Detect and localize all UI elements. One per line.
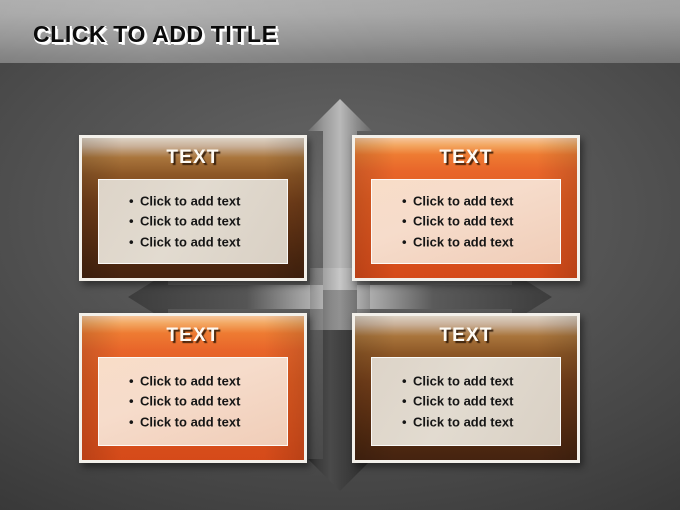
- bullet-marker-icon: •: [129, 232, 140, 253]
- list-item-label: Click to add text: [413, 414, 513, 429]
- list-item-label: Click to add text: [140, 234, 240, 249]
- list-item-label: Click to add text: [140, 373, 240, 388]
- bullet-marker-icon: •: [129, 211, 140, 232]
- list-item-label: Click to add text: [140, 414, 240, 429]
- box-heading[interactable]: TEXT: [355, 147, 577, 169]
- box-text-panel[interactable]: •Click to add text •Click to add text •C…: [371, 357, 561, 446]
- list-item[interactable]: •Click to add text: [402, 371, 560, 392]
- box-heading[interactable]: TEXT: [355, 325, 577, 347]
- box-text-panel[interactable]: •Click to add text •Click to add text •C…: [371, 179, 561, 264]
- box-text-panel[interactable]: •Click to add text •Click to add text •C…: [98, 357, 288, 446]
- content-box-bottom-left[interactable]: TEXT •Click to add text •Click to add te…: [79, 313, 307, 463]
- bullet-marker-icon: •: [402, 412, 413, 433]
- content-box-top-right[interactable]: TEXT •Click to add text •Click to add te…: [352, 135, 580, 281]
- list-item[interactable]: •Click to add text: [129, 391, 287, 412]
- list-item-label: Click to add text: [413, 393, 513, 408]
- bullet-marker-icon: •: [129, 412, 140, 433]
- bullet-marker-icon: •: [402, 391, 413, 412]
- bullet-list: •Click to add text •Click to add text •C…: [99, 371, 287, 433]
- list-item[interactable]: •Click to add text: [129, 371, 287, 392]
- list-item[interactable]: •Click to add text: [402, 412, 560, 433]
- list-item[interactable]: •Click to add text: [129, 412, 287, 433]
- bullet-marker-icon: •: [129, 371, 140, 392]
- list-item-label: Click to add text: [140, 393, 240, 408]
- list-item-label: Click to add text: [413, 373, 513, 388]
- list-item[interactable]: •Click to add text: [402, 391, 560, 412]
- list-item[interactable]: •Click to add text: [129, 191, 287, 212]
- bullet-marker-icon: •: [402, 191, 413, 212]
- bullet-marker-icon: •: [129, 391, 140, 412]
- list-item[interactable]: •Click to add text: [129, 232, 287, 253]
- bullet-marker-icon: •: [402, 211, 413, 232]
- bullet-marker-icon: •: [402, 232, 413, 253]
- list-item[interactable]: •Click to add text: [402, 211, 560, 232]
- content-box-top-left[interactable]: TEXT •Click to add text •Click to add te…: [79, 135, 307, 281]
- list-item[interactable]: •Click to add text: [402, 191, 560, 212]
- page-title[interactable]: CLICK TO ADD TITLE: [33, 21, 278, 48]
- slide-canvas: CLICK TO ADD TITLE: [0, 0, 680, 510]
- box-heading[interactable]: TEXT: [82, 147, 304, 169]
- list-item[interactable]: •Click to add text: [402, 232, 560, 253]
- bullet-list: •Click to add text •Click to add text •C…: [372, 371, 560, 433]
- list-item-label: Click to add text: [413, 234, 513, 249]
- content-box-bottom-right[interactable]: TEXT •Click to add text •Click to add te…: [352, 313, 580, 463]
- bullet-marker-icon: •: [129, 191, 140, 212]
- list-item-label: Click to add text: [413, 193, 513, 208]
- list-item[interactable]: •Click to add text: [129, 211, 287, 232]
- bullet-list: •Click to add text •Click to add text •C…: [99, 191, 287, 253]
- list-item-label: Click to add text: [140, 193, 240, 208]
- box-text-panel[interactable]: •Click to add text •Click to add text •C…: [98, 179, 288, 264]
- box-heading[interactable]: TEXT: [82, 325, 304, 347]
- bullet-marker-icon: •: [402, 371, 413, 392]
- bullet-list: •Click to add text •Click to add text •C…: [372, 191, 560, 253]
- list-item-label: Click to add text: [140, 213, 240, 228]
- list-item-label: Click to add text: [413, 213, 513, 228]
